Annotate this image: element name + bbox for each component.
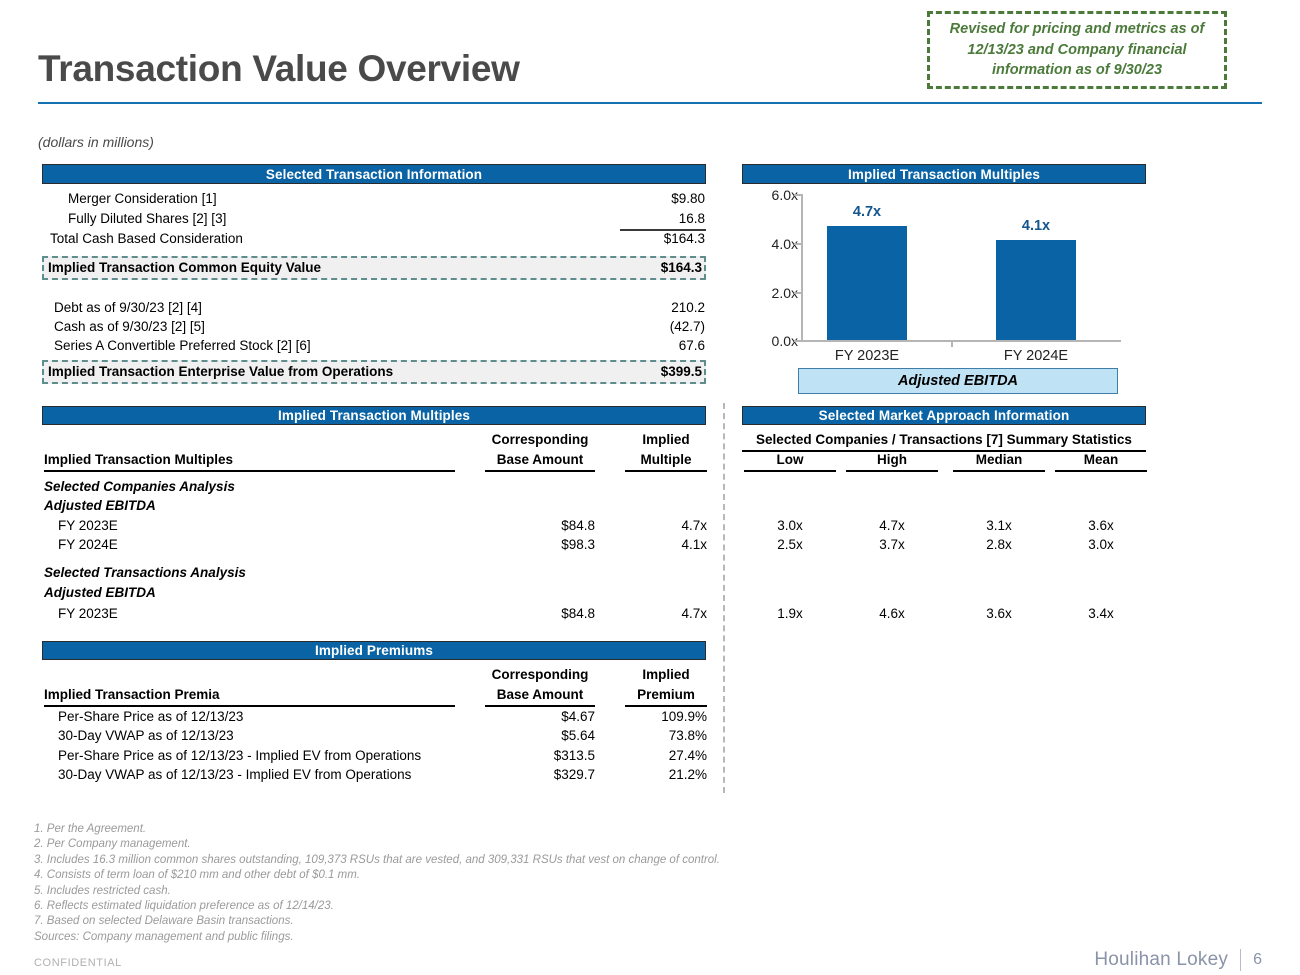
itm-rule-base <box>485 470 595 472</box>
chart-legend-adjusted-ebitda: Adjusted EBITDA <box>798 368 1118 394</box>
market-approach-r2-c0: 1.9x <box>744 606 836 621</box>
premiums-row-1-base: $5.64 <box>475 728 595 743</box>
implied-enterprise-value-value: $399.5 <box>505 364 702 379</box>
premiums-rule-base <box>485 705 595 707</box>
revised-annotation-box: Revised for pricing and metrics as of 12… <box>927 11 1227 89</box>
itm-group-1-title: Selected Transactions Analysis <box>44 565 246 580</box>
itm-group-1-row-0-base: $84.8 <box>475 606 595 621</box>
premiums-row-0-base: $4.67 <box>475 709 595 724</box>
market-approach-r1-c0: 2.5x <box>744 537 836 552</box>
market-approach-rule-0 <box>744 470 836 472</box>
itm-group-0-row-1-label: FY 2024E <box>58 537 118 552</box>
sti-row-value-0: $9.80 <box>505 191 705 206</box>
chart-ytick-label-0: 0.0x <box>738 333 798 349</box>
chart-xtick-label-fy2024e: FY 2024E <box>976 348 1096 364</box>
premiums-row-3-label: 30-Day VWAP as of 12/13/23 - Implied EV … <box>58 767 411 782</box>
selected-transaction-information-header: Selected Transaction Information <box>42 164 706 184</box>
market-approach-rule-3 <box>1055 470 1147 472</box>
market-approach-r1-c1: 3.7x <box>846 537 938 552</box>
itm-group-1-row-0-multiple: 4.7x <box>615 606 707 621</box>
implied-multiples-bar-chart: 6.0x 4.0x 2.0x 0.0x 4.7x 4.1x FY 2023E F… <box>742 190 1142 365</box>
premiums-row-1-label: 30-Day VWAP as of 12/13/23 <box>58 728 234 743</box>
implied-premiums-header: Implied Premiums <box>42 641 706 660</box>
implied-common-equity-value: $164.3 <box>505 260 702 275</box>
itm-col-multiple-line2: Multiple <box>621 452 711 467</box>
market-approach-col-3: Mean <box>1055 452 1147 467</box>
revised-annotation-text: Revised for pricing and metrics as of 12… <box>938 19 1216 81</box>
footnote-2: 2. Per Company management. <box>34 837 934 852</box>
chart-ytick-label-1: 2.0x <box>738 285 798 301</box>
sti-row-label-0: Merger Consideration [1] <box>68 191 217 206</box>
sti-row-value-1: 16.8 <box>505 211 705 226</box>
itm-col-label: Implied Transaction Multiples <box>44 452 233 467</box>
chart-bar-fy2023e <box>827 226 907 340</box>
implied-transaction-multiples-chart-header: Implied Transaction Multiples <box>742 164 1146 184</box>
itm-col-base-line2: Base Amount <box>485 452 595 467</box>
chart-ytick-mark-1 <box>794 292 802 294</box>
page-title: Transaction Value Overview <box>38 48 520 90</box>
sti-row2-value-0: 210.2 <box>505 300 705 315</box>
market-approach-r0-c2: 3.1x <box>953 518 1045 533</box>
chart-y-axis <box>801 194 803 341</box>
units-note: (dollars in millions) <box>38 134 154 150</box>
title-divider <box>38 102 1262 104</box>
premiums-row-3-base: $329.7 <box>475 767 595 782</box>
chart-ytick-label-3: 6.0x <box>738 187 798 203</box>
market-approach-rule-1 <box>846 470 938 472</box>
chart-bar-fy2024e <box>996 240 1076 340</box>
market-approach-col-1: High <box>846 452 938 467</box>
itm-rule-multiple <box>625 470 707 472</box>
footnote-3: 3. Includes 16.3 million common shares o… <box>34 853 934 868</box>
market-approach-col-2: Median <box>953 452 1045 467</box>
market-approach-r2-c3: 3.4x <box>1055 606 1147 621</box>
itm-group-0-row-0-base: $84.8 <box>475 518 595 533</box>
market-approach-r0-c3: 3.6x <box>1055 518 1147 533</box>
brand-footer: Houlihan Lokey 6 <box>1094 949 1262 971</box>
footnote-6: 6. Reflects estimated liquidation prefer… <box>34 899 934 914</box>
chart-ytick-mark-2 <box>794 243 802 245</box>
chart-xtick-label-fy2023e: FY 2023E <box>807 348 927 364</box>
chart-ytick-label-2: 4.0x <box>738 236 798 252</box>
premiums-row-0-premium: 109.9% <box>615 709 707 724</box>
sti-row2-label-1: Cash as of 9/30/23 [2] [5] <box>54 319 205 334</box>
premiums-rule-label <box>44 705 455 707</box>
itm-group-0-title: Selected Companies Analysis <box>44 479 235 494</box>
premiums-col-base-line1: Corresponding <box>485 667 595 682</box>
footnote-5: 5. Includes restricted cash. <box>34 884 934 899</box>
brand-name: Houlihan Lokey <box>1094 949 1228 971</box>
premiums-row-2-base: $313.5 <box>475 748 595 763</box>
footnote-1: 1. Per the Agreement. <box>34 822 934 837</box>
implied-common-equity-label: Implied Transaction Common Equity Value <box>48 260 321 275</box>
itm-col-base-line1: Corresponding <box>485 432 595 447</box>
market-approach-col-0: Low <box>744 452 836 467</box>
market-approach-r0-c0: 3.0x <box>744 518 836 533</box>
implied-transaction-multiples-header: Implied Transaction Multiples <box>42 406 706 425</box>
sti-row2-label-0: Debt as of 9/30/23 [2] [4] <box>54 300 202 315</box>
footnote-sources: Sources: Company management and public f… <box>34 930 934 945</box>
sti-row2-value-1: (42.7) <box>505 319 705 334</box>
market-approach-r0-c1: 4.7x <box>846 518 938 533</box>
brand-separator <box>1240 949 1241 971</box>
market-approach-r1-c3: 3.0x <box>1055 537 1147 552</box>
footnote-4: 4. Consists of term loan of $210 mm and … <box>34 868 934 883</box>
premiums-rule-premium <box>625 705 707 707</box>
market-approach-r1-c2: 2.8x <box>953 537 1045 552</box>
sti-row-label-2: Total Cash Based Consideration <box>50 231 243 246</box>
premiums-col-premium-line1: Implied <box>621 667 711 682</box>
selected-market-approach-header: Selected Market Approach Information <box>742 406 1146 425</box>
premiums-row-1-premium: 73.8% <box>615 728 707 743</box>
sti-row2-value-2: 67.6 <box>505 338 705 353</box>
implied-enterprise-value-label: Implied Transaction Enterprise Value fro… <box>48 364 393 379</box>
market-approach-rule-2 <box>953 470 1045 472</box>
itm-group-0-subtitle: Adjusted EBITDA <box>44 498 156 513</box>
footnote-7: 7. Based on selected Delaware Basin tran… <box>34 914 934 929</box>
market-approach-r2-c2: 3.6x <box>953 606 1045 621</box>
slide: Transaction Value Overview Revised for p… <box>0 0 1300 975</box>
premiums-row-2-label: Per-Share Price as of 12/13/23 - Implied… <box>58 748 421 763</box>
column-divider <box>723 403 725 793</box>
market-approach-subheader: Selected Companies / Transactions [7] Su… <box>742 432 1146 447</box>
sti-row2-label-2: Series A Convertible Preferred Stock [2]… <box>54 338 311 353</box>
itm-group-0-row-0-multiple: 4.7x <box>615 518 707 533</box>
chart-x-axis <box>801 340 1121 342</box>
chart-xtick-mark-mid <box>951 340 953 347</box>
chart-ytick-mark-3 <box>794 194 802 196</box>
premiums-row-3-premium: 21.2% <box>615 767 707 782</box>
chart-bar-label-fy2024e: 4.1x <box>996 218 1076 234</box>
premiums-row-2-premium: 27.4% <box>615 748 707 763</box>
footnotes: 1. Per the Agreement. 2. Per Company man… <box>34 822 934 945</box>
itm-group-1-subtitle: Adjusted EBITDA <box>44 585 156 600</box>
sti-row-value-2: $164.3 <box>505 231 705 246</box>
premiums-col-premium-line2: Premium <box>621 687 711 702</box>
itm-group-0-row-1-multiple: 4.1x <box>615 537 707 552</box>
itm-group-0-row-0-label: FY 2023E <box>58 518 118 533</box>
market-approach-r2-c1: 4.6x <box>846 606 938 621</box>
itm-rule-label <box>44 470 455 472</box>
itm-group-0-row-1-base: $98.3 <box>475 537 595 552</box>
premiums-col-label: Implied Transaction Premia <box>44 687 220 702</box>
confidential-label: CONFIDENTIAL <box>34 957 122 969</box>
premiums-col-base-line2: Base Amount <box>485 687 595 702</box>
itm-col-multiple-line1: Implied <box>621 432 711 447</box>
chart-bar-label-fy2023e: 4.7x <box>827 204 907 220</box>
page-number: 6 <box>1253 951 1262 969</box>
sti-row-label-1: Fully Diluted Shares [2] [3] <box>68 211 226 226</box>
chart-ytick-mark-0 <box>794 340 802 342</box>
premiums-row-0-label: Per-Share Price as of 12/13/23 <box>58 709 243 724</box>
itm-group-1-row-0-label: FY 2023E <box>58 606 118 621</box>
